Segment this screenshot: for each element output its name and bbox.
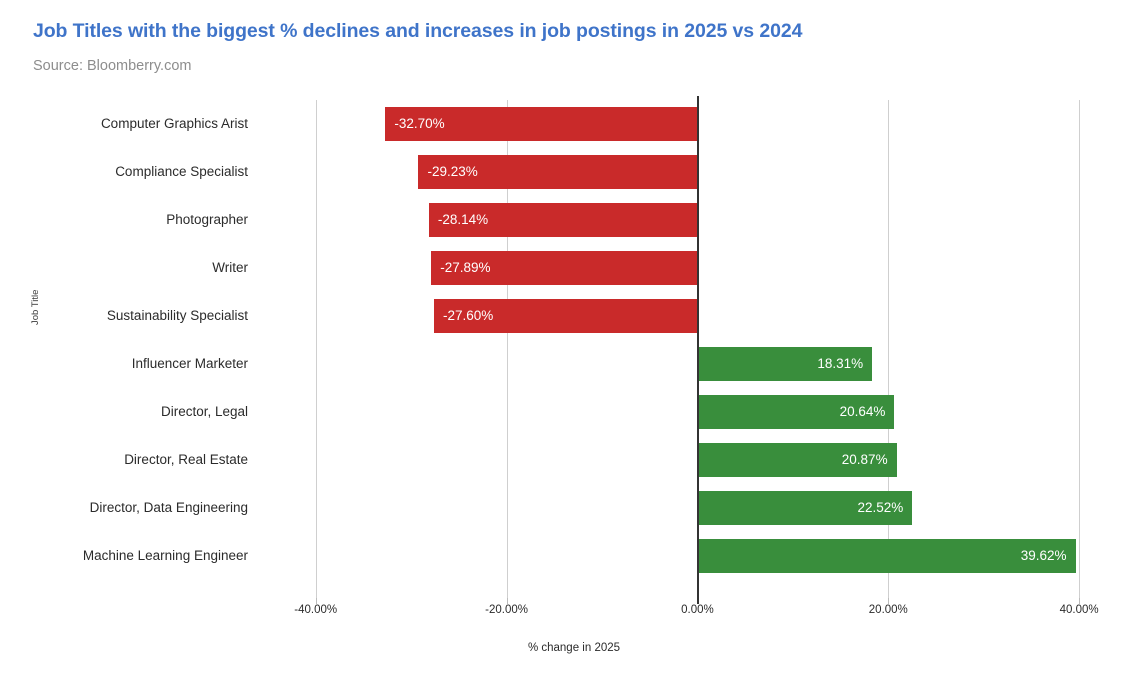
y-axis-category-labels: Computer Graphics AristCompliance Specia… bbox=[0, 100, 258, 598]
bar-row: 18.31% bbox=[268, 340, 1103, 388]
category-label: Influencer Marketer bbox=[132, 340, 248, 388]
zero-axis-line bbox=[697, 96, 698, 604]
bar-row: 39.62% bbox=[268, 532, 1103, 580]
bar-value-label: 22.52% bbox=[858, 491, 904, 525]
category-label: Sustainability Specialist bbox=[107, 292, 248, 340]
bar-row: -29.23% bbox=[268, 148, 1103, 196]
x-tick-label: -40.00% bbox=[294, 604, 337, 616]
bar[interactable]: 18.31% bbox=[697, 347, 872, 381]
plot-area: -32.70%-29.23%-28.14%-27.89%-27.60%18.31… bbox=[268, 100, 1103, 598]
bar-row: -28.14% bbox=[268, 196, 1103, 244]
category-label: Machine Learning Engineer bbox=[83, 532, 248, 580]
bar[interactable]: 39.62% bbox=[697, 539, 1075, 573]
bar[interactable]: -32.70% bbox=[385, 107, 697, 141]
chart-source-subtitle: Source: Bloomberry.com bbox=[33, 58, 191, 74]
category-label: Director, Data Engineering bbox=[90, 484, 248, 532]
category-label: Writer bbox=[212, 244, 248, 292]
bar-row: 20.87% bbox=[268, 436, 1103, 484]
bar-value-label: -29.23% bbox=[427, 155, 477, 189]
x-tick-label: 40.00% bbox=[1060, 604, 1099, 616]
bar-value-label: -27.89% bbox=[440, 251, 490, 285]
bar[interactable]: -27.89% bbox=[431, 251, 697, 285]
category-label: Photographer bbox=[166, 196, 248, 244]
bar[interactable]: -28.14% bbox=[429, 203, 698, 237]
bar-value-label: 20.87% bbox=[842, 443, 888, 477]
bar-chart: Job Titles with the biggest % declines a… bbox=[0, 0, 1148, 675]
bar-row: -27.60% bbox=[268, 292, 1103, 340]
category-label: Director, Real Estate bbox=[124, 436, 248, 484]
bar-value-label: -28.14% bbox=[438, 203, 488, 237]
category-label: Director, Legal bbox=[161, 388, 248, 436]
bar-row: 22.52% bbox=[268, 484, 1103, 532]
x-tick-label: 20.00% bbox=[869, 604, 908, 616]
bar[interactable]: -27.60% bbox=[434, 299, 697, 333]
bar[interactable]: 20.87% bbox=[697, 443, 896, 477]
bar-value-label: -32.70% bbox=[394, 107, 444, 141]
bar-value-label: 39.62% bbox=[1021, 539, 1067, 573]
x-axis-title: % change in 2025 bbox=[0, 642, 1148, 654]
bar-value-label: 18.31% bbox=[817, 347, 863, 381]
bar[interactable]: 20.64% bbox=[697, 395, 894, 429]
x-tick-label: -20.00% bbox=[485, 604, 528, 616]
x-tick-label: 0.00% bbox=[681, 604, 714, 616]
bar[interactable]: -29.23% bbox=[418, 155, 697, 189]
bar-row: -32.70% bbox=[268, 100, 1103, 148]
bar-row: -27.89% bbox=[268, 244, 1103, 292]
bar-value-label: -27.60% bbox=[443, 299, 493, 333]
bar[interactable]: 22.52% bbox=[697, 491, 912, 525]
bar-row: 20.64% bbox=[268, 388, 1103, 436]
page-title: Job Titles with the biggest % declines a… bbox=[33, 20, 802, 43]
category-label: Compliance Specialist bbox=[115, 148, 248, 196]
bar-value-label: 20.64% bbox=[840, 395, 886, 429]
category-label: Computer Graphics Arist bbox=[101, 100, 248, 148]
